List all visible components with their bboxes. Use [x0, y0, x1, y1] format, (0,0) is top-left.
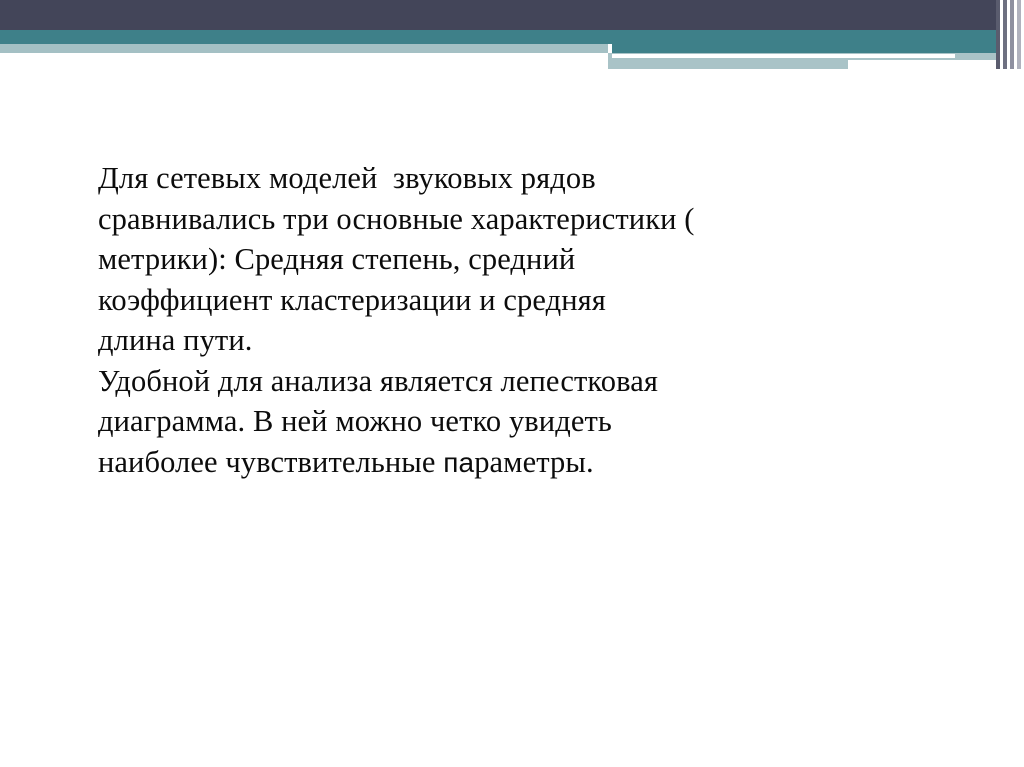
header-accent-gap-2 — [1007, 0, 1010, 69]
body-line-7: диаграмма. В ней можно четко увидеть — [98, 404, 612, 438]
body-paragraph-first: Для сетевых моделей звуковых рядов сравн… — [98, 158, 898, 361]
header-white-gap-line — [612, 54, 955, 58]
header-accent-stripe-2 — [1003, 0, 1007, 69]
body-line-5: длина пути. — [98, 323, 253, 357]
body-line-8-prefix: наиболее чувствительные — [98, 445, 443, 479]
body-line-8-sans-fragment: па — [443, 447, 474, 478]
header-accent-stripe-1 — [996, 0, 1000, 69]
header-teal-band — [0, 30, 1024, 44]
header-pale-band-right-upper — [608, 53, 1024, 60]
header-dark-band — [0, 0, 1024, 30]
header-accent-stripe-3 — [1010, 0, 1014, 69]
body-line-4: коэффициент кластеризации и средняя — [98, 283, 606, 317]
header-accent-gap-1 — [1000, 0, 1003, 69]
header-step-notch — [608, 44, 612, 53]
body-line-3: метрики): Средняя степень, средний — [98, 242, 575, 276]
header-pale-band-right-lower — [608, 60, 848, 69]
header-teal-band-right-step — [608, 44, 1024, 53]
slide-canvas: Для сетевых моделей звуковых рядов сравн… — [0, 0, 1024, 767]
header-accent-gap-3 — [1014, 0, 1017, 69]
header-accent-stripe-4 — [1017, 0, 1021, 69]
header-pale-band-left — [0, 44, 610, 53]
slide-body-text: Для сетевых моделей звуковых рядов сравн… — [98, 158, 898, 483]
body-line-8-suffix: раметры. — [474, 445, 594, 479]
body-line-1: Для сетевых моделей звуковых рядов — [98, 161, 596, 195]
header-pale-band-right-fade — [848, 60, 1024, 69]
body-paragraph-second: Удобной для анализа является лепестковая… — [98, 361, 898, 484]
body-line-2: сравнивались три основные характеристики… — [98, 202, 695, 236]
body-line-6: Удобной для анализа является лепестковая — [98, 364, 658, 398]
